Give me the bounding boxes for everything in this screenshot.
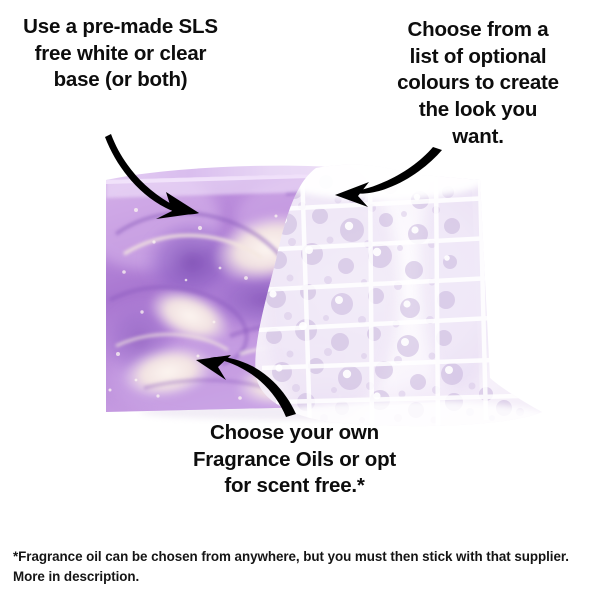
callout-colours-text: Choose from a list of optional colours t… [392, 17, 564, 150]
soap-foam-lather [255, 150, 560, 440]
footnote-text: *Fragrance oil can be chosen from anywhe… [13, 547, 591, 587]
callout-base-text: Use a pre-made SLS free white or clear b… [18, 14, 223, 94]
callout-fragrance-text: Choose your own Fragrance Oils or opt fo… [192, 420, 397, 500]
infographic-canvas: Use a pre-made SLS free white or clear b… [0, 0, 600, 600]
soap-product-photo [80, 150, 560, 440]
